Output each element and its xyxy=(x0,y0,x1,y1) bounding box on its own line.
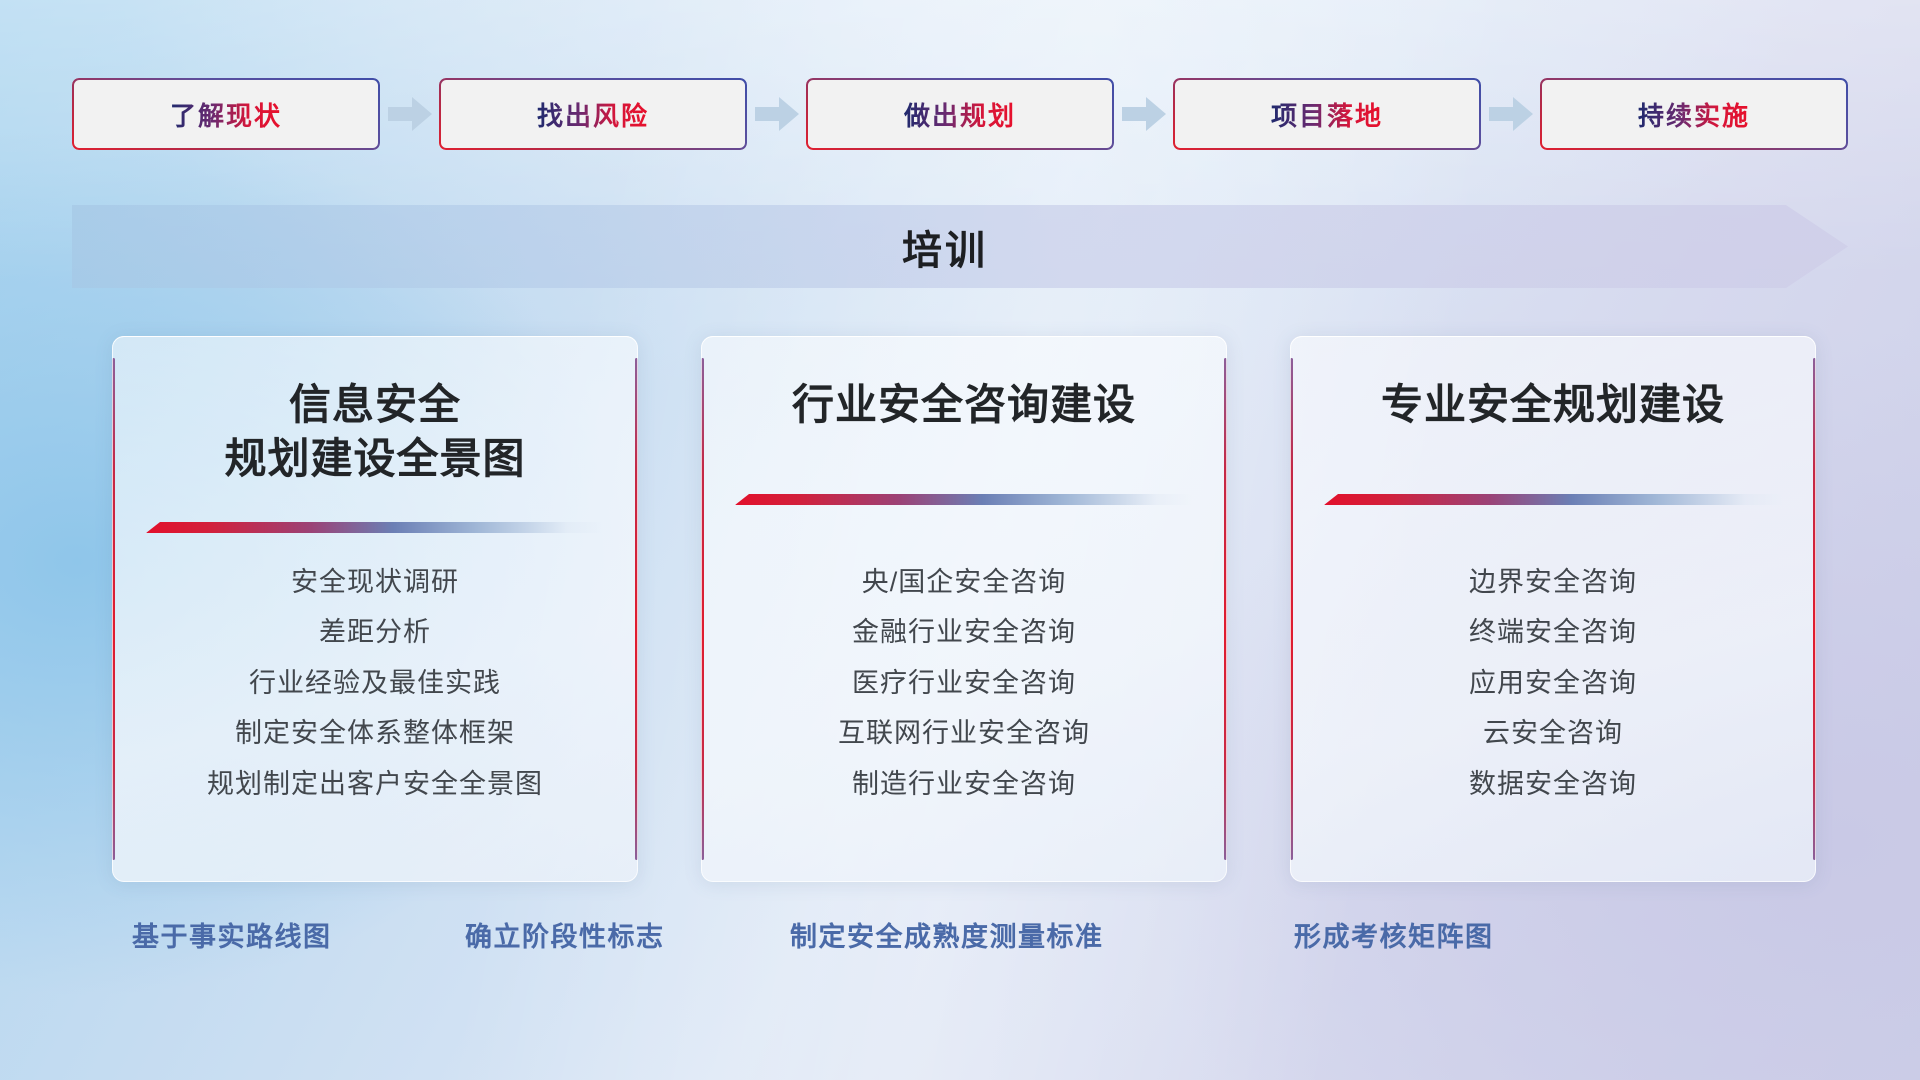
list-item: 安全现状调研 xyxy=(291,566,459,598)
card-divider-2 xyxy=(735,494,1193,505)
card-list-1: 安全现状调研 差距分析 行业经验及最佳实践 制定安全体系整体框架 规划制定出客户… xyxy=(112,566,638,800)
list-item: 规划制定出客户安全全景图 xyxy=(207,768,543,800)
training-banner: 培训 xyxy=(72,205,1848,288)
step-label-3: 做出规划 xyxy=(904,96,1016,133)
list-item: 边界安全咨询 xyxy=(1469,566,1637,598)
list-item: 行业经验及最佳实践 xyxy=(249,667,501,699)
step-box-3[interactable]: 做出规划 xyxy=(806,78,1114,150)
arrow-right-icon-4 xyxy=(1481,78,1540,150)
card-divider-3 xyxy=(1324,494,1782,505)
step-box-1[interactable]: 了解现状 xyxy=(72,78,380,150)
step-label-5: 持续实施 xyxy=(1638,96,1750,133)
list-item: 云安全咨询 xyxy=(1483,717,1623,749)
card-professional-security-planning[interactable]: 专业安全规划建设 边界安全咨询 终端安全咨询 应用安全咨询 云安全咨询 数据安全… xyxy=(1290,336,1816,882)
card-industry-security-consulting[interactable]: 行业安全咨询建设 央/国企安全咨询 金融行业安全咨询 医疗行业安全咨询 互联网行… xyxy=(701,336,1227,882)
caption-1: 基于事实路线图 xyxy=(132,915,332,954)
arrow-right-icon-2 xyxy=(747,78,806,150)
list-item: 医疗行业安全咨询 xyxy=(852,667,1076,699)
list-item: 应用安全咨询 xyxy=(1469,667,1637,699)
step-box-4[interactable]: 项目落地 xyxy=(1173,78,1481,150)
list-item: 互联网行业安全咨询 xyxy=(838,717,1090,749)
caption-4: 形成考核矩阵图 xyxy=(1294,915,1494,954)
process-step-row: 了解现状 找出风险 做出规划 项目落地 xyxy=(72,78,1848,150)
slide-stage: 了解现状 找出风险 做出规划 项目落地 xyxy=(0,0,1920,1080)
step-label-1: 了解现状 xyxy=(170,96,282,133)
card-title-3: 专业安全规划建设 xyxy=(1290,378,1816,432)
banner-title: 培训 xyxy=(72,205,1848,288)
list-item: 金融行业安全咨询 xyxy=(852,616,1076,648)
card-information-security-blueprint[interactable]: 信息安全 规划建设全景图 安全现状调研 差距分析 行业经验及最佳实践 制定安全体… xyxy=(112,336,638,882)
step-label-2: 找出风险 xyxy=(537,96,649,133)
list-item: 央/国企安全咨询 xyxy=(862,566,1067,598)
card-list-3: 边界安全咨询 终端安全咨询 应用安全咨询 云安全咨询 数据安全咨询 xyxy=(1290,566,1816,800)
card-row: 信息安全 规划建设全景图 安全现状调研 差距分析 行业经验及最佳实践 制定安全体… xyxy=(112,336,1816,882)
card-title-1: 信息安全 规划建设全景图 xyxy=(112,378,638,486)
caption-row: 基于事实路线图 确立阶段性标志 制定安全成熟度测量标准 形成考核矩阵图 xyxy=(0,915,1920,965)
list-item: 制造行业安全咨询 xyxy=(852,768,1076,800)
card-title-2: 行业安全咨询建设 xyxy=(701,378,1227,432)
caption-2: 确立阶段性标志 xyxy=(465,915,665,954)
step-label-4: 项目落地 xyxy=(1271,96,1383,133)
arrow-right-icon-1 xyxy=(380,78,439,150)
caption-3: 制定安全成熟度测量标准 xyxy=(790,915,1104,954)
list-item: 数据安全咨询 xyxy=(1469,768,1637,800)
step-box-5[interactable]: 持续实施 xyxy=(1540,78,1848,150)
arrow-right-icon-3 xyxy=(1114,78,1173,150)
card-divider-1 xyxy=(146,522,604,533)
list-item: 终端安全咨询 xyxy=(1469,616,1637,648)
step-box-2[interactable]: 找出风险 xyxy=(439,78,747,150)
list-item: 制定安全体系整体框架 xyxy=(235,717,515,749)
card-list-2: 央/国企安全咨询 金融行业安全咨询 医疗行业安全咨询 互联网行业安全咨询 制造行… xyxy=(701,566,1227,800)
list-item: 差距分析 xyxy=(319,616,431,648)
